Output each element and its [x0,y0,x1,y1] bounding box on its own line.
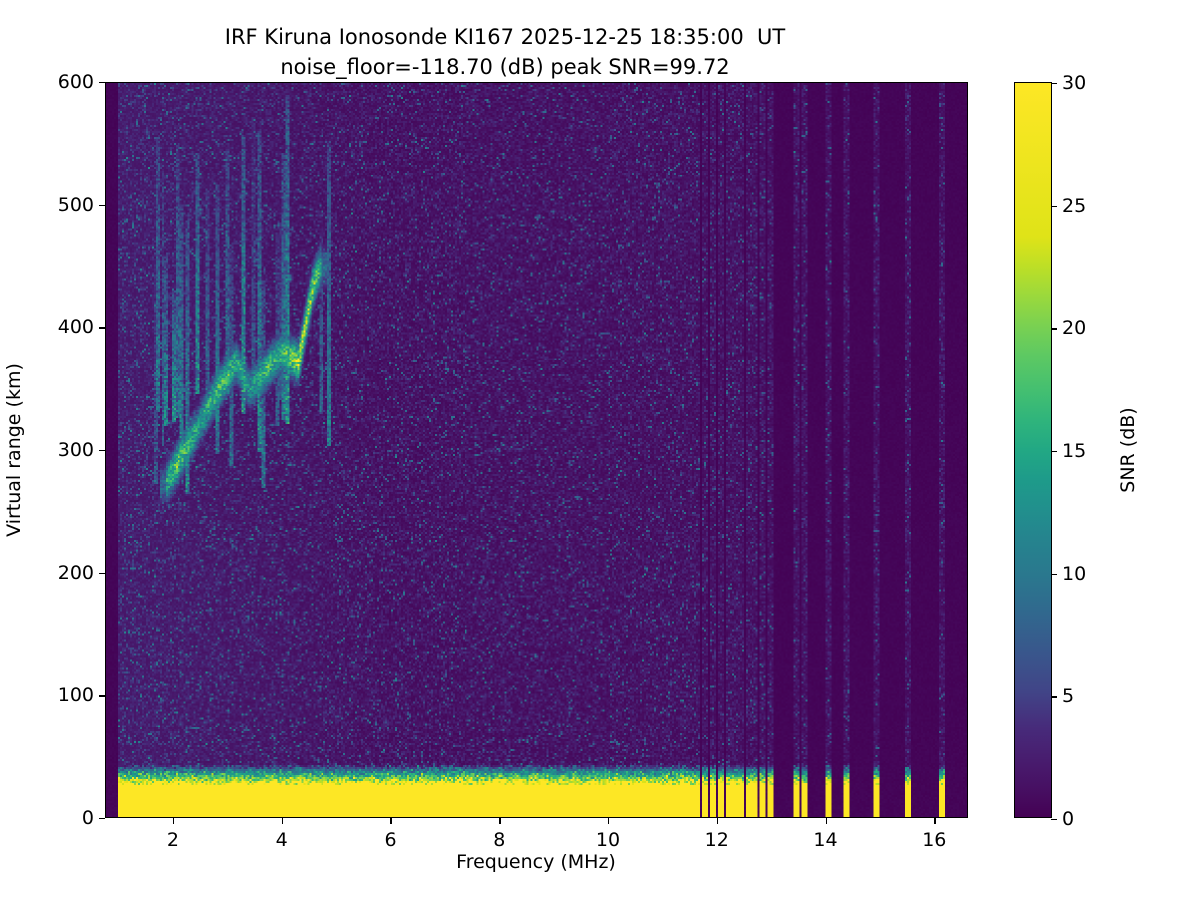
x-tick-mark [717,818,718,824]
colorbar-tick-mark [1051,328,1057,329]
ionogram-heatmap[interactable] [106,83,967,817]
x-tick-mark [390,818,391,824]
colorbar-tick-mark [1051,206,1057,207]
y-tick-label: 500 [58,194,94,216]
y-tick-label: 200 [58,562,94,584]
y-tick-mark [99,695,105,696]
colorbar-tick-mark [1051,819,1057,820]
y-tick-mark [99,818,105,819]
y-tick-label: 100 [58,684,94,706]
ionogram-axes[interactable] [105,82,968,818]
y-tick-mark [99,82,105,83]
colorbar-tick-mark [1051,574,1057,575]
x-tick-label: 12 [705,829,729,851]
x-tick-mark [934,818,935,824]
y-tick-label: 0 [82,807,94,829]
colorbar-tick-mark [1051,83,1057,84]
x-tick-mark [173,818,174,824]
x-tick-label: 14 [813,829,837,851]
colorbar-tick-label: 30 [1062,72,1086,94]
colorbar-label: SNR (dB) [1117,407,1139,492]
x-tick-mark [499,818,500,824]
x-tick-label: 6 [384,829,396,851]
title-line-2: noise_floor=-118.70 (dB) peak SNR=99.72 [280,55,729,79]
x-tick-mark [826,818,827,824]
colorbar-tick-label: 20 [1062,317,1086,339]
x-tick-label: 8 [493,829,505,851]
x-axis-label: Frequency (MHz) [456,851,616,873]
x-tick-label: 2 [167,829,179,851]
y-axis-label: Virtual range (km) [3,363,25,537]
y-tick-mark [99,450,105,451]
y-tick-label: 600 [58,71,94,93]
y-tick-mark [99,205,105,206]
y-tick-mark [99,327,105,328]
colorbar-tick-mark [1051,696,1057,697]
colorbar-tick-mark [1051,451,1057,452]
y-tick-label: 400 [58,316,94,338]
y-tick-mark [99,573,105,574]
heatmap-area[interactable] [106,83,967,817]
colorbar-tick-label: 5 [1062,685,1074,707]
colorbar-tick-label: 10 [1062,563,1086,585]
colorbar-tick-label: 0 [1062,808,1074,830]
colorbar-tick-label: 25 [1062,195,1086,217]
x-tick-label: 4 [276,829,288,851]
snr-colorbar[interactable]: 051015202530 [1014,82,1052,818]
figure-title: IRF Kiruna Ionosonde KI167 2025-12-25 18… [0,22,1010,82]
x-tick-mark [608,818,609,824]
x-tick-label: 16 [922,829,946,851]
x-tick-mark [282,818,283,824]
title-line-1: IRF Kiruna Ionosonde KI167 2025-12-25 18… [225,25,785,49]
ionogram-figure: IRF Kiruna Ionosonde KI167 2025-12-25 18… [0,0,1200,900]
y-tick-label: 300 [58,439,94,461]
x-tick-label: 10 [596,829,620,851]
colorbar-tick-label: 15 [1062,440,1086,462]
